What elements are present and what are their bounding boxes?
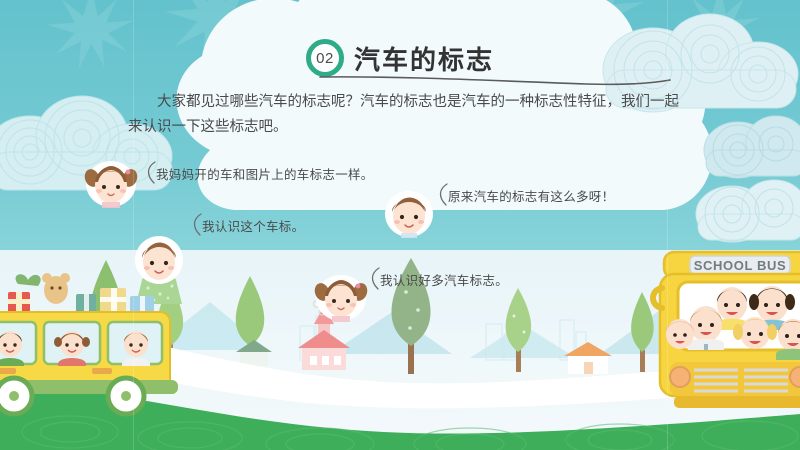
illustration-bus-left: [0, 268, 260, 450]
avatar-boy-brown-hair: [382, 188, 436, 238]
speech-bubble-2: 原来汽车的标志有这么多呀！: [448, 186, 614, 205]
seam-band-left: [133, 0, 134, 450]
body-paragraph: 大家都见过哪些汽车的标志呢？汽车的标志也是汽车的一种标志性特征，我们一起来认识一…: [128, 90, 688, 140]
avatar-girl-pigtails-1: [84, 158, 138, 208]
bubble-tail-icon: [366, 267, 382, 293]
speech-bubble-1-text: 我妈妈开的车和图片上的车标志一样。: [156, 167, 374, 182]
speech-bubble-1: 我妈妈开的车和图片上的车标志一样。: [156, 164, 374, 183]
speech-bubble-2-text: 原来汽车的标志有这么多呀！: [448, 189, 614, 204]
bubble-tail-icon: [142, 161, 158, 187]
speech-bubble-4: 我认识好多汽车标志。: [380, 270, 508, 289]
bus-sign-label: SCHOOL BUS: [694, 258, 786, 273]
slide-title-row: 02 汽车的标志: [0, 38, 800, 78]
page-title: 汽车的标志: [354, 40, 494, 77]
section-number-badge: 02: [306, 39, 344, 77]
bubble-tail-icon: [188, 213, 204, 239]
illustration-bus-right: SCHOOL BUS: [648, 244, 800, 434]
seam-band-right: [667, 0, 668, 450]
slide-canvas: 02 汽车的标志 大家都见过哪些汽车的标志呢？汽车的标志也是汽车的一种标志性特征…: [0, 0, 800, 450]
speech-bubble-3: 我认识这个车标。: [202, 216, 304, 235]
avatar-girl-pigtails-2: [314, 272, 368, 322]
speech-bubble-3-text: 我认识这个车标。: [202, 219, 304, 234]
title-underline: [318, 74, 678, 88]
section-number-text: 02: [316, 50, 334, 67]
speech-bubble-4-text: 我认识好多汽车标志。: [380, 273, 508, 288]
bubble-tail-icon: [434, 183, 450, 209]
cloud-right-lower: [690, 168, 800, 248]
